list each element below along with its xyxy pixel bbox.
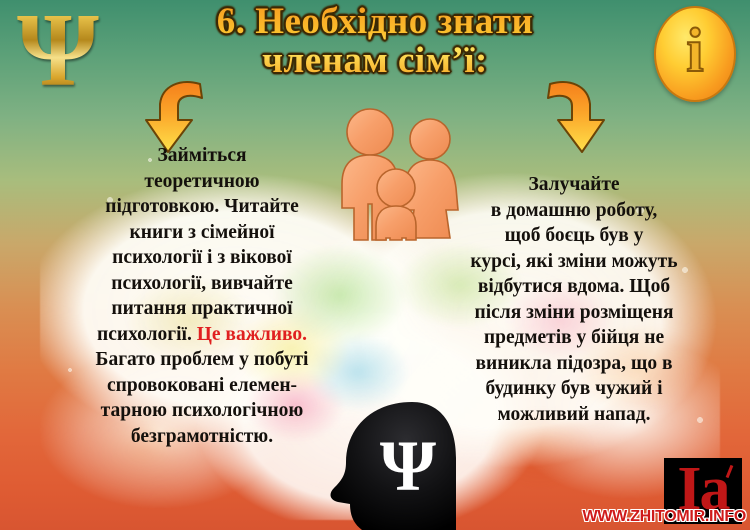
- left-line: підготовкою. Читайте: [52, 194, 352, 220]
- right-line: предметів у бійця не: [418, 325, 730, 351]
- page-title: 6. Необхідно знати членам сім’ї:: [105, 2, 645, 80]
- left-line: безграмотністю.: [52, 424, 352, 450]
- left-line: психології, вивчайте: [52, 271, 352, 297]
- right-line: в домашню роботу,: [418, 198, 730, 224]
- title-line-2: членам сім’ї:: [105, 41, 645, 80]
- info-badge-label: i: [686, 20, 703, 88]
- right-line: відбутися вдома. Щоб: [418, 274, 730, 300]
- left-line: спровоковані елемен-: [52, 373, 352, 399]
- info-badge: i: [654, 6, 736, 102]
- head-psi-glyph: Ψ: [380, 426, 436, 506]
- right-line: Залучайте: [418, 172, 730, 198]
- title-line-1: 6. Необхідно знати: [217, 1, 534, 42]
- right-line: щоб боєць був у: [418, 223, 730, 249]
- right-text-block: Залучайте в домашню роботу, щоб боєць бу…: [418, 172, 730, 427]
- poster-canvas: Ψ 6. Необхідно знати членам сім’ї: i: [0, 0, 750, 530]
- left-line: тарною психологічною: [52, 398, 352, 424]
- left-line: книги з сімейної: [52, 220, 352, 246]
- left-line: Багато проблем у побуті: [52, 347, 352, 373]
- right-line: після зміни розміщеня: [418, 300, 730, 326]
- right-line: курсі, які зміни можуть: [418, 249, 730, 275]
- left-line: Займіться: [52, 143, 352, 169]
- left-line-highlighted: психології. Це важливо.: [52, 322, 352, 348]
- left-line: психології і з вікової: [52, 245, 352, 271]
- left-line: питання практичної: [52, 296, 352, 322]
- left-text-block: Займіться теоретичною підготовкою. Читай…: [52, 143, 352, 449]
- important-highlight: Це важливо.: [197, 324, 307, 345]
- site-url[interactable]: WWW.ZHITOMIR.INFO: [583, 508, 746, 526]
- right-line: можливий напад.: [418, 402, 730, 428]
- curved-arrow-down-right-icon: [532, 78, 610, 160]
- right-line: будинку був чужий і: [418, 376, 730, 402]
- left-line: теоретичною: [52, 169, 352, 195]
- psi-gold-icon: Ψ: [6, 0, 110, 106]
- left-line-prefix: психології.: [97, 324, 197, 345]
- right-line: виникла підозра, що в: [418, 351, 730, 377]
